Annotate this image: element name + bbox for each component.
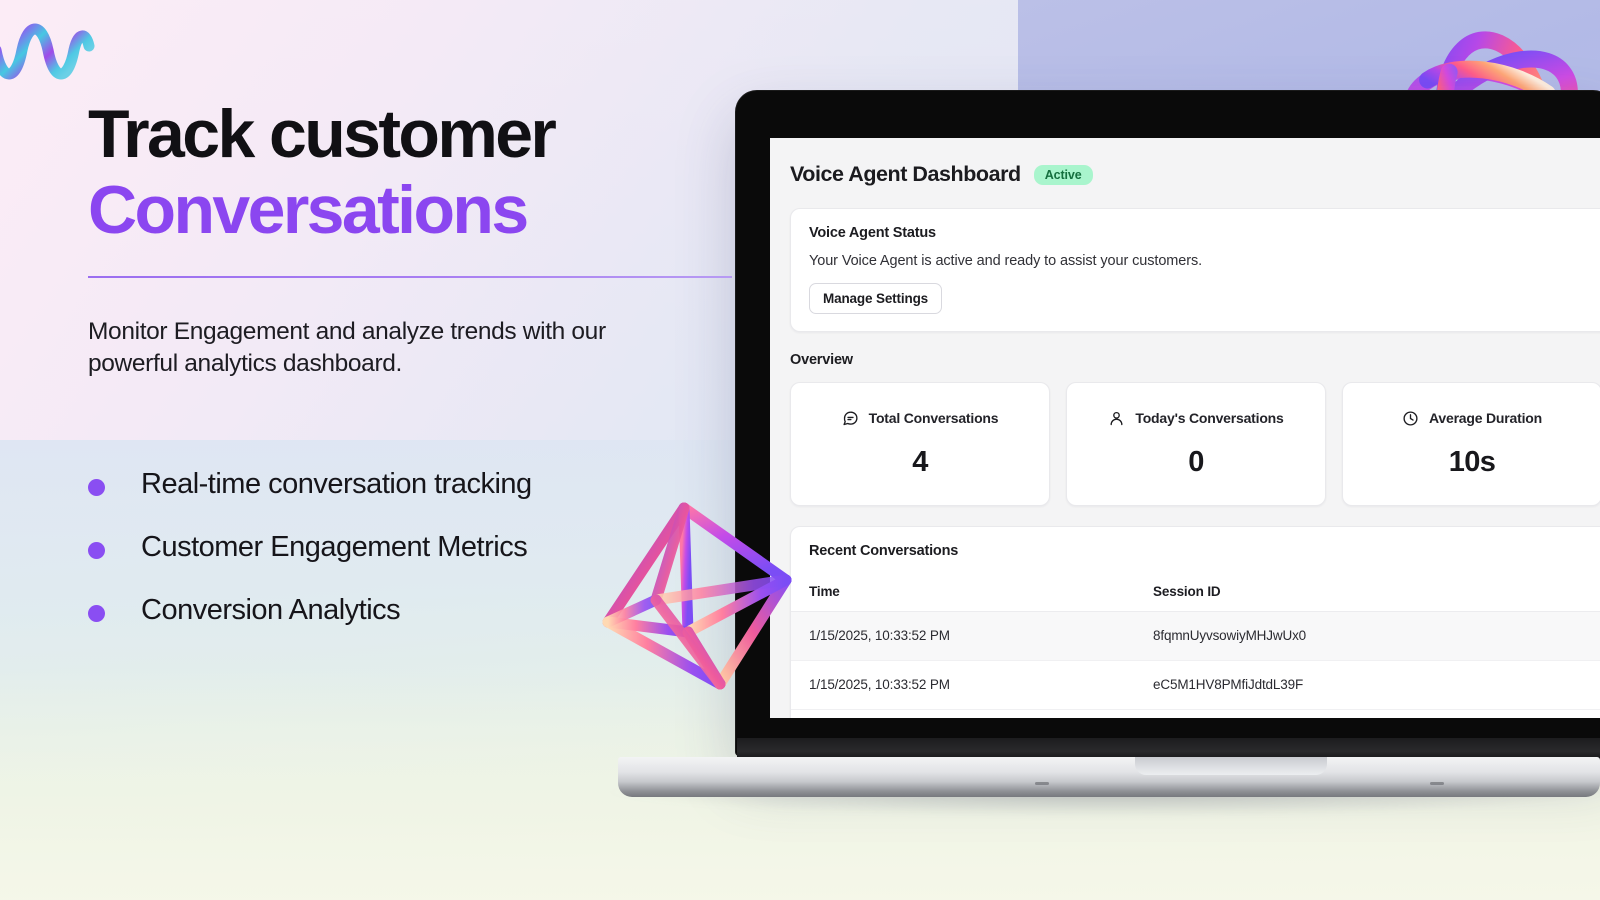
stat-label: Today's Conversations xyxy=(1135,410,1283,426)
column-header-session-id[interactable]: Session ID xyxy=(1135,573,1600,612)
recent-conversations-card: Recent Conversations Time Session ID 1/1… xyxy=(790,526,1600,718)
page-title: Voice Agent Dashboard xyxy=(790,162,1021,187)
stat-card-total-conversations: Total Conversations 4 xyxy=(790,382,1050,506)
table-body: 1/15/2025, 10:33:52 PM 8fqmnUyvsowiyMHJw… xyxy=(791,612,1600,710)
dashboard-header: Voice Agent Dashboard Active xyxy=(770,138,1600,187)
stat-card-head: Average Duration xyxy=(1402,410,1542,427)
cell-time: 1/15/2025, 10:33:52 PM xyxy=(791,661,1135,710)
headline-line-2: Conversations xyxy=(88,172,748,248)
status-card-title: Voice Agent Status xyxy=(809,225,1600,241)
laptop-foot-right xyxy=(1430,782,1444,785)
list-item: Conversion Analytics xyxy=(88,592,648,629)
table-header: Time Session ID xyxy=(791,573,1600,612)
cell-session-id: 8fqmnUyvsowiyMHJwUx0 xyxy=(1135,612,1600,661)
bullet-dot-icon xyxy=(88,605,105,622)
column-header-time[interactable]: Time xyxy=(791,573,1135,612)
laptop-base xyxy=(618,757,1600,797)
recent-conversations-table: Time Session ID 1/15/2025, 10:33:52 PM 8… xyxy=(791,573,1600,710)
feature-label: Conversion Analytics xyxy=(141,592,400,629)
overview-section-label: Overview xyxy=(790,352,1600,368)
bullet-dot-icon xyxy=(88,542,105,559)
stat-value: 0 xyxy=(1188,446,1204,479)
stat-card-head: Total Conversations xyxy=(842,410,999,427)
cell-time: 1/15/2025, 10:33:52 PM xyxy=(791,612,1135,661)
feature-list: Real-time conversation tracking Customer… xyxy=(88,466,648,629)
recent-conversations-title: Recent Conversations xyxy=(791,543,1600,559)
table-header-row: Time Session ID xyxy=(791,573,1600,612)
list-item: Customer Engagement Metrics xyxy=(88,529,648,566)
user-icon xyxy=(1108,410,1125,427)
voice-agent-status-card: Voice Agent Status Your Voice Agent is a… xyxy=(790,208,1600,332)
table-row[interactable]: 1/15/2025, 10:33:52 PM eC5M1HV8PMfiJdtdL… xyxy=(791,661,1600,710)
bullet-dot-icon xyxy=(88,479,105,496)
hero-subtitle: Monitor Engagement and analyze trends wi… xyxy=(88,316,648,379)
status-card-description: Your Voice Agent is active and ready to … xyxy=(809,253,1600,269)
headline-line-1: Track customer xyxy=(88,96,748,172)
stat-card-todays-conversations: Today's Conversations 0 xyxy=(1066,382,1326,506)
list-item: Real-time conversation tracking xyxy=(88,466,648,503)
feature-label: Customer Engagement Metrics xyxy=(141,529,527,566)
feature-label: Real-time conversation tracking xyxy=(141,466,532,503)
chat-bubble-icon xyxy=(842,410,859,427)
stat-card-head: Today's Conversations xyxy=(1108,410,1283,427)
hero-section: Track customer Conversations Monitor Eng… xyxy=(88,96,748,379)
status-badge: Active xyxy=(1034,165,1093,185)
squiggle-wave-icon xyxy=(0,20,104,84)
clock-icon xyxy=(1402,410,1419,427)
stat-label: Total Conversations xyxy=(869,410,999,426)
table-row[interactable]: 1/15/2025, 10:33:52 PM 8fqmnUyvsowiyMHJw… xyxy=(791,612,1600,661)
laptop-base-notch xyxy=(1135,757,1327,775)
voice-agent-dashboard: Voice Agent Dashboard Active Voice Agent… xyxy=(770,138,1600,718)
laptop-foot-left xyxy=(1035,782,1049,785)
manage-settings-button[interactable]: Manage Settings xyxy=(809,283,942,314)
stat-value: 4 xyxy=(912,446,928,479)
cell-session-id: eC5M1HV8PMfiJdtdL39F xyxy=(1135,661,1600,710)
overview-stat-cards: Total Conversations 4 Today's Conversati… xyxy=(790,382,1600,506)
hero-divider xyxy=(88,276,732,278)
stat-label: Average Duration xyxy=(1429,410,1542,426)
stat-card-average-duration: Average Duration 10s xyxy=(1342,382,1600,506)
stat-value: 10s xyxy=(1449,446,1496,479)
